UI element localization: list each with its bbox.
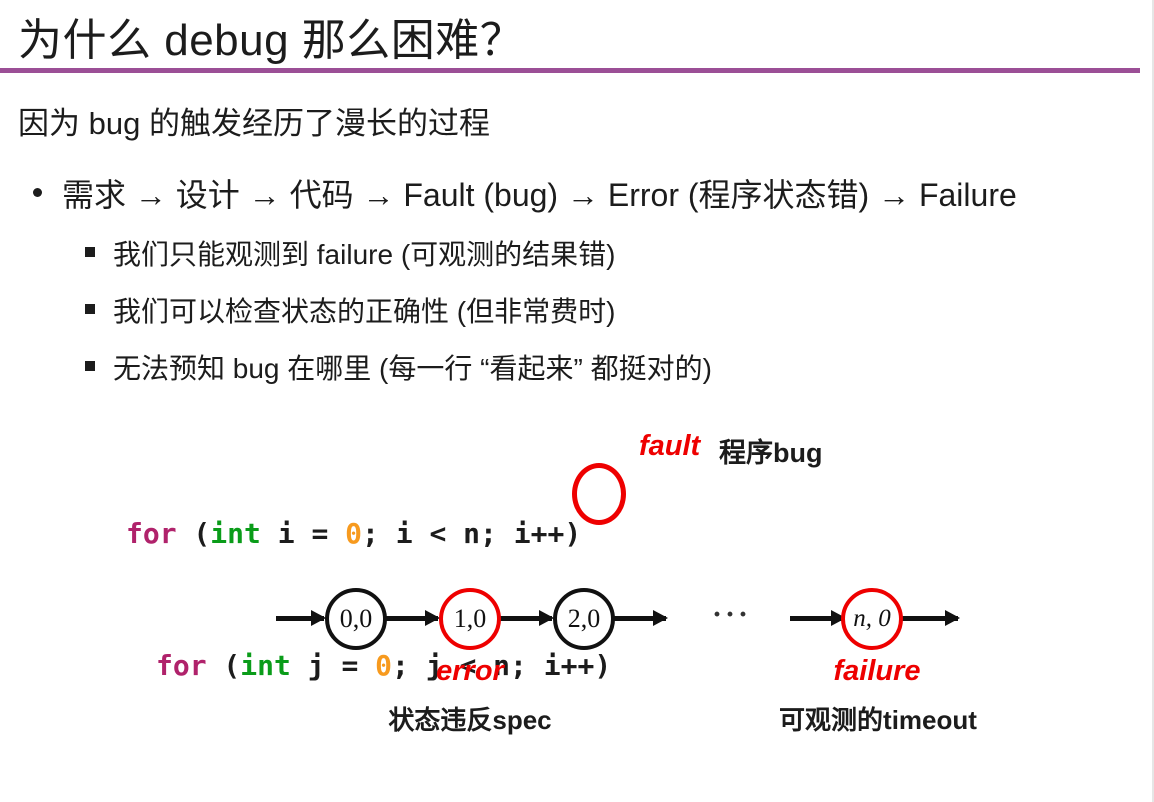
page-title: 为什么 debug 那么困难？ xyxy=(18,4,524,68)
title-divider xyxy=(0,68,1140,73)
bullet-level2-observe-failure: 我们只能观测到 failure (可观测的结果错) xyxy=(85,233,615,273)
error-label: error xyxy=(410,655,530,688)
code-number: 0 xyxy=(345,517,362,550)
bullet-level2-text: 我们可以检查状态的正确性 (但非常费时) xyxy=(113,290,615,330)
bug-highlight-ellipse xyxy=(572,463,626,525)
error-note: 状态违反spec xyxy=(380,700,560,737)
bullet-level2-unknown-bug: 无法预知 bug 在哪里 (每一行 “看起来” 都挺对的) xyxy=(85,347,712,387)
bullet-level2-check-state: 我们可以检查状态的正确性 (但非常费时) xyxy=(85,290,615,330)
code-keyword-for: for xyxy=(126,517,177,550)
bullet-level2-text: 我们只能观测到 failure (可观测的结果错) xyxy=(113,233,615,273)
state-node-label: n, 0 xyxy=(853,605,891,633)
state-node-label: 1,0 xyxy=(454,604,487,634)
fault-label: fault xyxy=(639,430,700,463)
state-node-0: 0,0 xyxy=(325,588,387,650)
slide: 为什么 debug 那么困难？ 因为 bug 的触发经历了漫长的过程 需求 → … xyxy=(0,0,1154,802)
fault-note: 程序bug xyxy=(719,431,822,470)
failure-label: failure xyxy=(812,655,942,688)
code-line-1: for (int i = 0; i < n; i++) xyxy=(126,512,611,556)
failure-note: 可观测的timeout xyxy=(768,700,988,737)
arrow-0-to-1 xyxy=(386,616,438,621)
bullet-square-icon xyxy=(85,361,95,371)
code-init: i = xyxy=(261,517,345,550)
bullet-level1-text: 需求 → 设计 → 代码 → Fault (bug) → Error (程序状态… xyxy=(62,170,1017,216)
bullet-level1: 需求 → 设计 → 代码 → Fault (bug) → Error (程序状态… xyxy=(33,170,1017,216)
arrow-1-to-2 xyxy=(500,616,552,621)
state-node-2: 2,0 xyxy=(553,588,615,650)
diagram-ellipsis: ··· xyxy=(712,598,751,632)
arrow-2-out xyxy=(614,616,666,621)
state-node-error: 1,0 xyxy=(439,588,501,650)
arrow-in xyxy=(276,616,324,621)
code-line-3: ... xyxy=(126,776,611,802)
code-rest: ; i < n; i++) xyxy=(362,517,581,550)
code-type-int: int xyxy=(210,517,261,550)
bullet-dot-icon xyxy=(33,188,42,197)
state-diagram: 0,0 1,0 2,0 ··· n, 0 xyxy=(0,566,1154,676)
bullet-square-icon xyxy=(85,304,95,314)
state-node-failure: n, 0 xyxy=(841,588,903,650)
state-node-label: 2,0 xyxy=(568,604,601,634)
arrow-to-n xyxy=(790,616,844,621)
code-punct: ( xyxy=(177,517,211,550)
bullet-square-icon xyxy=(85,247,95,257)
arrow-n-out xyxy=(902,616,958,621)
state-node-label: 0,0 xyxy=(340,604,373,634)
bullet-level2-text: 无法预知 bug 在哪里 (每一行 “看起来” 都挺对的) xyxy=(113,347,712,387)
subtitle: 因为 bug 的触发经历了漫长的过程 xyxy=(18,98,490,143)
